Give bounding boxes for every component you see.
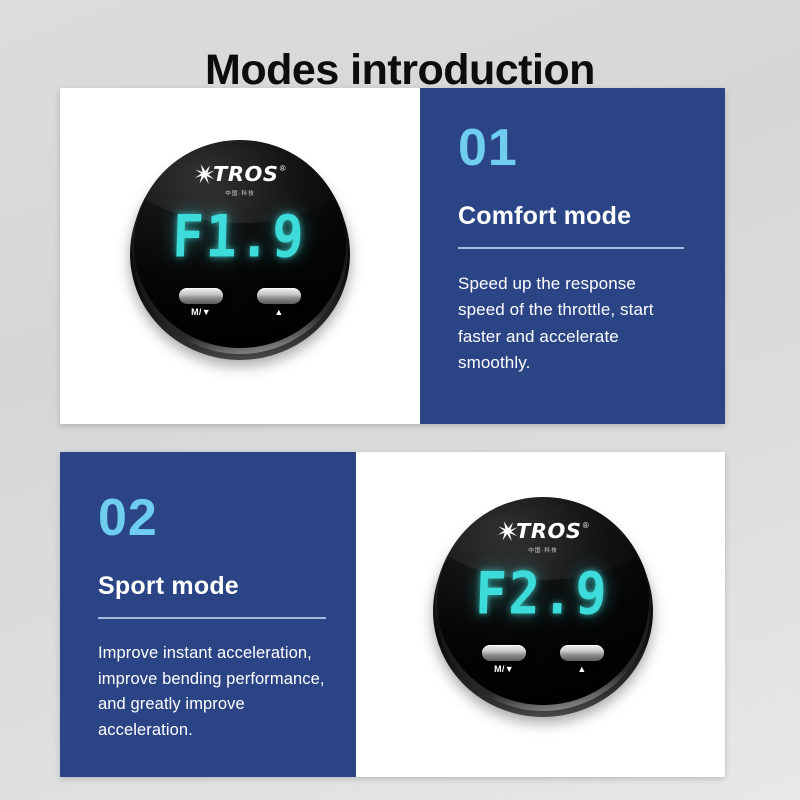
brand-logo: TROS ® 中国·科技: [437, 521, 649, 554]
mode-up-button-cap[interactable]: [257, 288, 301, 304]
mode-description-sport: Improve instant acceleration, improve be…: [98, 641, 326, 743]
device-pane-sport: TROS ® 中国·科技 F2.9 M/▼ ▲: [356, 452, 725, 777]
device-pane-comfort: TROS ® 中国·科技 F1.9 M/▼ ▲: [60, 88, 420, 424]
mode-up-button[interactable]: ▲: [560, 645, 604, 674]
device-face: TROS ® 中国·科技 F2.9 M/▼ ▲: [437, 497, 649, 705]
mode-up-button-label: ▲: [257, 308, 301, 317]
mode-title-sport: Sport mode: [98, 574, 326, 599]
brand-subtext: 中国·科技: [139, 191, 340, 197]
brand-wordmark: TROS: [213, 164, 279, 184]
mode-up-button-cap[interactable]: [560, 645, 604, 661]
mode-number-02: 02: [98, 492, 326, 544]
throttle-controller-device: TROS ® 中国·科技 F1.9 M/▼ ▲: [130, 140, 350, 360]
throttle-controller-device: TROS ® 中国·科技 F2.9 M/▼ ▲: [433, 497, 653, 717]
brand-subtext: 中国·科技: [442, 548, 643, 554]
device-display-value: F1.9: [134, 204, 346, 271]
mode-down-button[interactable]: M/▼: [482, 645, 526, 674]
mode-down-button[interactable]: M/▼: [179, 288, 223, 317]
text-pane-sport: 02 Sport mode Improve instant accelerati…: [60, 452, 356, 777]
mode-up-button[interactable]: ▲: [257, 288, 301, 317]
mode-card-sport: 02 Sport mode Improve instant accelerati…: [60, 452, 725, 777]
mode-down-button-label: M/▼: [179, 308, 223, 317]
device-button-row: M/▼ ▲: [437, 645, 649, 674]
device-face: TROS ® 中国·科技 F1.9 M/▼ ▲: [134, 140, 346, 348]
mode-down-button-label: M/▼: [482, 665, 526, 674]
mode-up-button-label: ▲: [560, 665, 604, 674]
mode-down-button-cap[interactable]: [482, 645, 526, 661]
mode-description-comfort: Speed up the response speed of the throt…: [458, 271, 687, 376]
registered-trademark-icon: ®: [583, 522, 589, 530]
device-button-row: M/▼ ▲: [134, 288, 346, 317]
text-pane-comfort: 01 Comfort mode Speed up the response sp…: [420, 88, 725, 424]
title-divider: [98, 617, 326, 619]
mode-title-comfort: Comfort mode: [458, 204, 687, 229]
title-divider: [458, 247, 684, 249]
page-title: Modes introduction: [0, 47, 800, 94]
registered-trademark-icon: ®: [280, 165, 286, 173]
mode-card-comfort: TROS ® 中国·科技 F1.9 M/▼ ▲: [60, 88, 725, 424]
brand-logo: TROS ® 中国·科技: [134, 164, 346, 197]
device-display-value: F2.9: [437, 561, 649, 628]
mode-down-button-cap[interactable]: [179, 288, 223, 304]
mode-number-01: 01: [458, 122, 687, 174]
brand-wordmark: TROS: [516, 521, 582, 541]
